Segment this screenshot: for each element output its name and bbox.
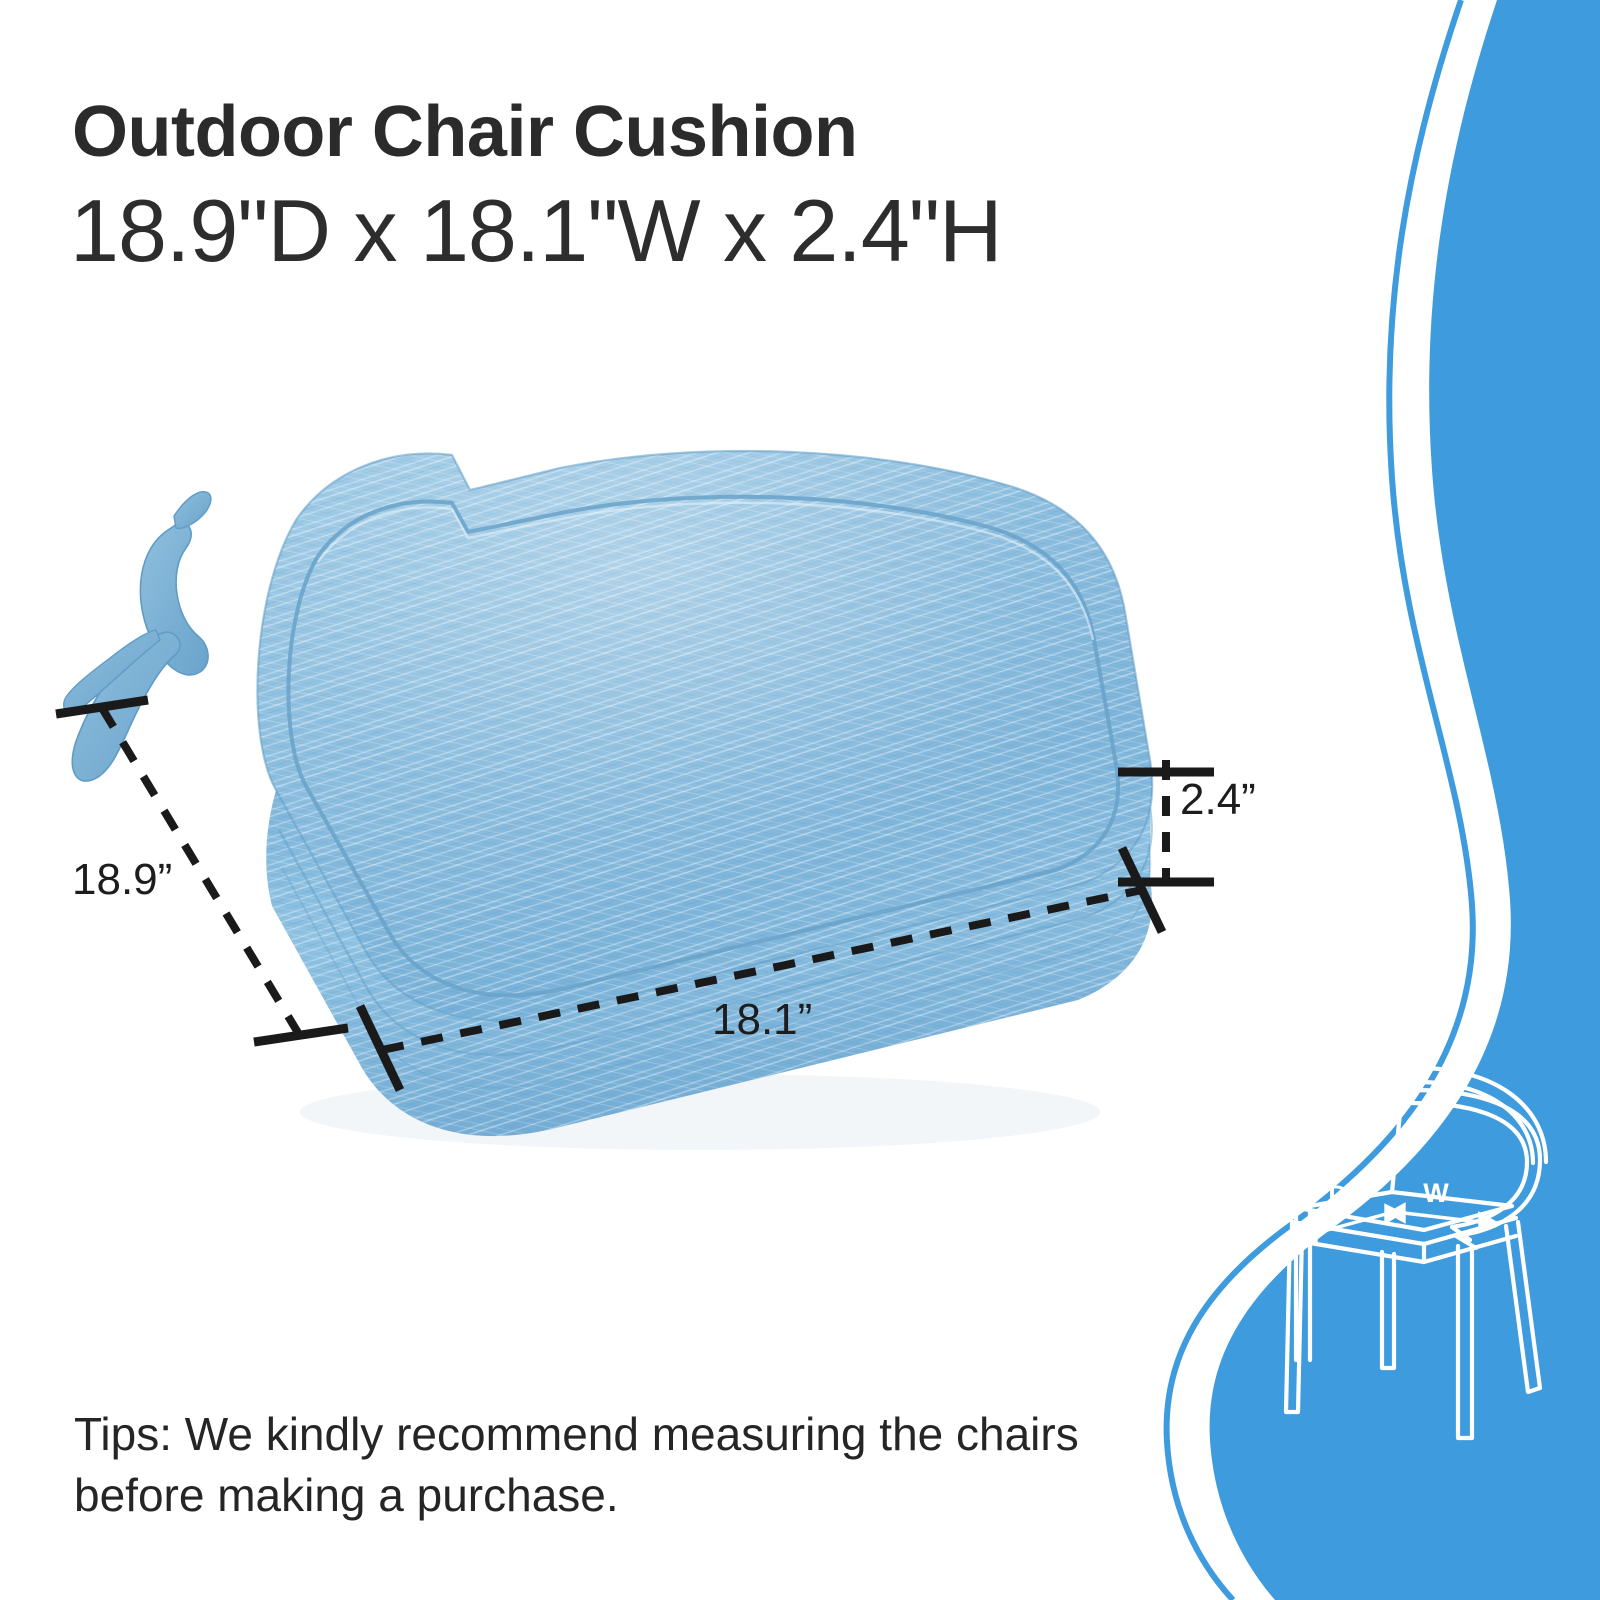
chair-measurement-diagram: D W [0, 0, 1600, 1600]
chair-width-label: W [1423, 1178, 1449, 1208]
chair-leg-front-right [1458, 1246, 1472, 1438]
chair-depth-label: D [1328, 1180, 1348, 1210]
infographic-canvas: D W Outdoor Chair Cushion 18.9"D x 18.1"… [0, 0, 1600, 1600]
chair-leg-center [1382, 1252, 1394, 1368]
chair-leg-rear-right [1506, 1222, 1540, 1392]
chair-backrest-outer [1296, 1090, 1540, 1360]
